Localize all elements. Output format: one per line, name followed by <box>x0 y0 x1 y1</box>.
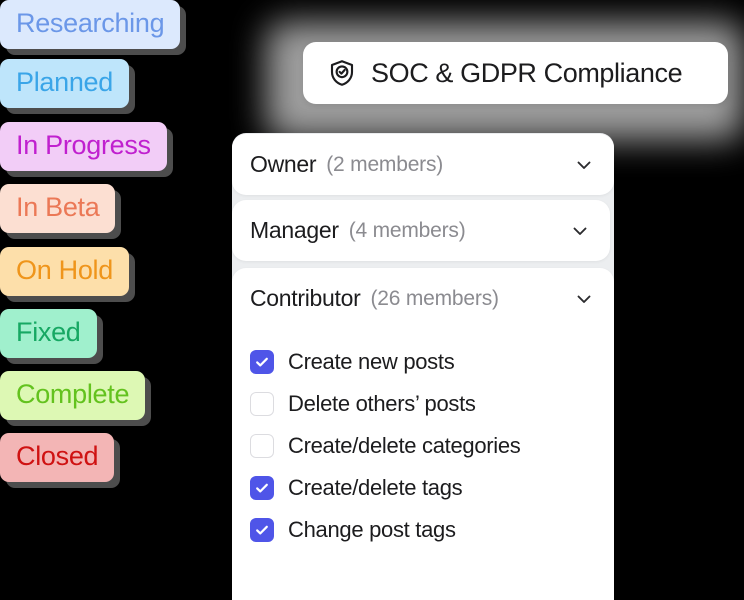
checkbox-unchecked-icon[interactable] <box>250 392 274 416</box>
compliance-card-label: SOC & GDPR Compliance <box>371 58 682 89</box>
role-member-count: (2 members) <box>326 153 443 177</box>
status-badge[interactable]: On Hold <box>0 247 129 296</box>
permission-label: Create/delete categories <box>288 433 521 459</box>
role-name: Manager <box>250 217 339 244</box>
status-badge-row: On Hold <box>0 247 129 296</box>
permission-item[interactable]: Change post tags <box>250 509 614 551</box>
checkbox-checked-icon[interactable] <box>250 350 274 374</box>
role-header[interactable]: Contributor (26 members) <box>232 268 614 329</box>
checkbox-checked-icon[interactable] <box>250 476 274 500</box>
status-badge[interactable]: In Progress <box>0 122 167 171</box>
status-badge[interactable]: Planned <box>0 59 129 108</box>
status-badge-row: Complete <box>0 371 145 420</box>
status-badge-row: Fixed <box>0 309 97 358</box>
soc-gdpr-compliance-card[interactable]: SOC & GDPR Compliance <box>303 42 728 104</box>
permission-item[interactable]: Delete others’ posts <box>250 383 614 425</box>
status-badge-row: Planned <box>0 59 129 108</box>
permission-label: Change post tags <box>288 517 456 543</box>
permission-item[interactable]: Create/delete tags <box>250 467 614 509</box>
chevron-down-icon[interactable] <box>574 289 594 309</box>
role-row-contributor[interactable]: Contributor (26 members) Create new post… <box>232 268 614 600</box>
permission-item[interactable]: Create new posts <box>250 341 614 383</box>
checkbox-unchecked-icon[interactable] <box>250 434 274 458</box>
chevron-down-icon[interactable] <box>570 221 590 241</box>
role-header[interactable]: Owner (2 members) <box>232 151 614 178</box>
permission-label: Create new posts <box>288 349 454 375</box>
status-badge-row: In Progress <box>0 122 167 171</box>
role-header[interactable]: Manager (4 members) <box>232 217 610 244</box>
permissions-checkbox-list: Create new postsDelete others’ postsCrea… <box>232 329 614 551</box>
checkbox-checked-icon[interactable] <box>250 518 274 542</box>
status-badge[interactable]: Researching <box>0 0 180 49</box>
status-badge[interactable]: Closed <box>0 433 114 482</box>
role-name: Contributor <box>250 285 360 312</box>
role-name: Owner <box>250 151 316 178</box>
shield-check-icon <box>327 58 357 88</box>
permission-label: Create/delete tags <box>288 475 462 501</box>
permission-label: Delete others’ posts <box>288 391 476 417</box>
status-badge-row: In Beta <box>0 184 115 233</box>
chevron-down-icon[interactable] <box>574 155 594 175</box>
status-badge-row: Closed <box>0 433 114 482</box>
role-member-count: (4 members) <box>349 219 466 243</box>
status-badge[interactable]: Complete <box>0 371 145 420</box>
screenshot-canvas: ResearchingPlannedIn ProgressIn BetaOn H… <box>0 0 744 600</box>
status-badge[interactable]: In Beta <box>0 184 115 233</box>
status-badge[interactable]: Fixed <box>0 309 97 358</box>
permission-item[interactable]: Create/delete categories <box>250 425 614 467</box>
role-member-count: (26 members) <box>370 287 498 311</box>
role-row-owner[interactable]: Owner (2 members) <box>232 134 614 195</box>
role-row-manager[interactable]: Manager (4 members) <box>232 200 610 261</box>
status-badge-row: Researching <box>0 0 180 49</box>
